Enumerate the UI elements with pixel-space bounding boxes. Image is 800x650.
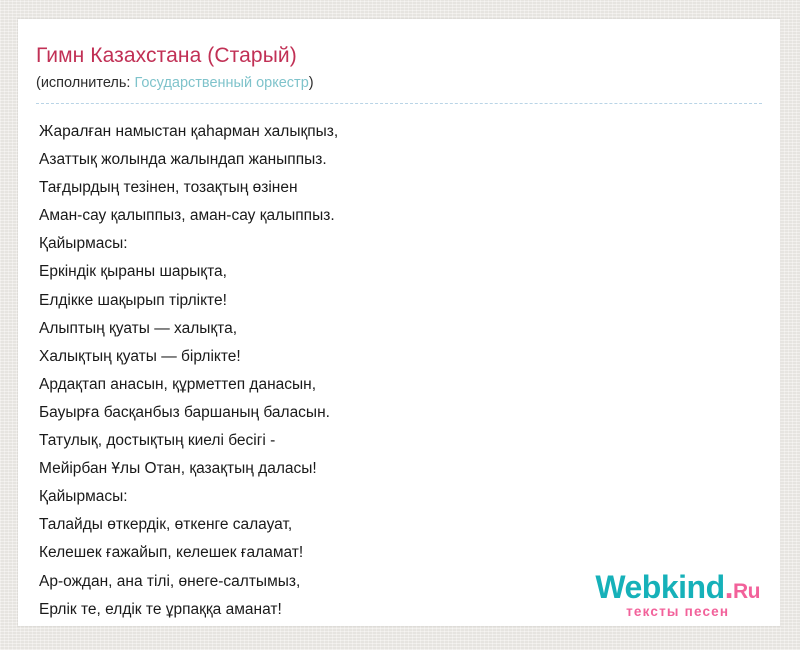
lyric-line: Жаралған намыстан қаһарман халықпыз,	[39, 118, 780, 146]
lyric-line: Елдікке шақырып тірлікте!	[39, 287, 780, 315]
logo-text-tld: Ru	[733, 580, 760, 603]
lyric-line: Қайырмасы:	[39, 624, 780, 626]
lyric-line: Аман-сау қалыппыз, аман-сау қалыппыз.	[39, 202, 780, 230]
site-logo[interactable]: Webkind.Ru тексты песен	[595, 571, 760, 619]
lyric-line: Ардақтап анасын, құрметтеп данасын,	[39, 371, 780, 399]
lyric-line: Азаттық жолында жалындап жаныппыз.	[39, 146, 780, 174]
card-content: Гимн Казахстана (Старый) (исполнитель: Г…	[18, 19, 780, 626]
performer-paren-close: )	[309, 75, 314, 91]
lyrics-card: Гимн Казахстана (Старый) (исполнитель: Г…	[18, 19, 780, 626]
lyric-line: Келешек ғажайып, келешек ғаламат!	[39, 539, 780, 567]
lyric-line: Тағдырдың тезінен, тозақтың өзінен	[39, 174, 780, 202]
lyric-line: Мейірбан Ұлы Отан, қазақтың даласы!	[39, 455, 780, 483]
lyrics-body: Жаралған намыстан қаһарман халықпыз,Азат…	[36, 104, 780, 626]
logo-text-dot: .	[725, 569, 733, 605]
lyric-line: Татулық, достықтың киелі бесігі -	[39, 427, 780, 455]
lyric-line: Халықтың қуаты — бірлікте!	[39, 343, 780, 371]
lyric-line: Алыптың қуаты — халықта,	[39, 315, 780, 343]
performer-line: (исполнитель: Государственный оркестр)	[36, 73, 780, 99]
logo-text-web: Web	[595, 569, 660, 605]
performer-label: (исполнитель:	[36, 75, 130, 91]
performer-link[interactable]: Государственный оркестр	[134, 75, 308, 91]
lyric-line: Бауырға басқанбыз баршаның баласын.	[39, 399, 780, 427]
lyric-line: Еркіндік қыраны шарықта,	[39, 258, 780, 286]
page-title: Гимн Казахстана (Старый)	[36, 43, 780, 69]
lyric-line: Талайды өткердік, өткенге салауат,	[39, 511, 780, 539]
lyric-line: Қайырмасы:	[39, 483, 780, 511]
logo-wordmark: Webkind.Ru	[595, 571, 760, 608]
logo-text-kind: kind	[661, 569, 725, 605]
lyric-line: Қайырмасы:	[39, 230, 780, 258]
